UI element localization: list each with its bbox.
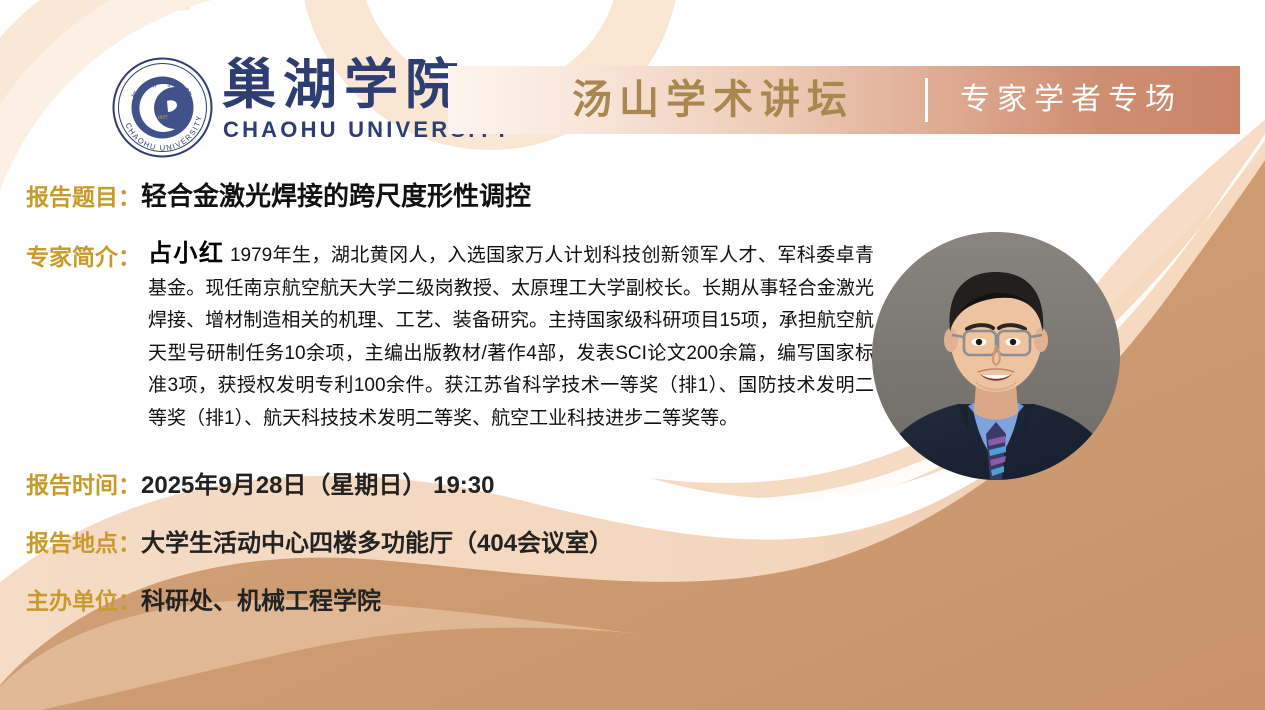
forum-banner-title: 汤山学术讲坛 (572, 75, 854, 125)
forum-banner-subtitle: 专家学者专场 (960, 80, 1182, 120)
forum-banner: 汤山学术讲坛 专家学者专场 (448, 66, 1240, 134)
poster-header: 1977 巢 湖 学 院 CHAOHU UNIVERSITY 巢湖学院 CHAO… (0, 0, 1265, 160)
report-title-label: 报告题目： (26, 184, 141, 210)
speaker-portrait (872, 232, 1120, 480)
report-title-row: 报告题目：轻合金激光焊接的跨尺度形性调控 (26, 176, 531, 213)
report-place-value: 大学生活动中心四楼多功能厅（404会议室） (141, 530, 613, 557)
speaker-name: 占小红 (148, 240, 224, 267)
report-place-label: 报告地点： (26, 530, 141, 556)
report-title-value: 轻合金激光焊接的跨尺度形性调控 (141, 181, 531, 211)
report-time-value: 2025年9月28日（星期日） 19:30 (141, 472, 494, 499)
speaker-portrait-image (872, 232, 1120, 480)
report-time-row: 报告时间：2025年9月28日（星期日） 19:30 (26, 465, 494, 500)
report-host-row: 主办单位：科研处、机械工程学院 (26, 581, 381, 616)
report-host-value: 科研处、机械工程学院 (141, 588, 381, 615)
banner-divider (925, 78, 928, 122)
report-place-row: 报告地点：大学生活动中心四楼多功能厅（404会议室） (26, 523, 613, 558)
university-name-cn: 巢湖学院 (222, 58, 466, 112)
speaker-bio-label: 专家简介： (26, 238, 141, 272)
seal-year: 1977 (158, 116, 169, 121)
speaker-bio-body: 占小红 1979年生，湖北黄冈人，入选国家万人计划科技创新领军人才、军科委卓青基… (148, 238, 874, 435)
chaohu-university-seal-icon: 1977 巢 湖 学 院 CHAOHU UNIVERSITY (112, 57, 213, 158)
lecture-poster: 1977 巢 湖 学 院 CHAOHU UNIVERSITY 巢湖学院 CHAO… (0, 0, 1265, 710)
report-time-label: 报告时间： (26, 472, 141, 498)
speaker-bio-row: 专家简介： 占小红 1979年生，湖北黄冈人，入选国家万人计划科技创新领军人才、… (26, 238, 874, 435)
report-host-label: 主办单位： (26, 588, 141, 614)
speaker-bio-text: 1979年生，湖北黄冈人，入选国家万人计划科技创新领军人才、军科委卓青基金。现任… (148, 245, 874, 429)
